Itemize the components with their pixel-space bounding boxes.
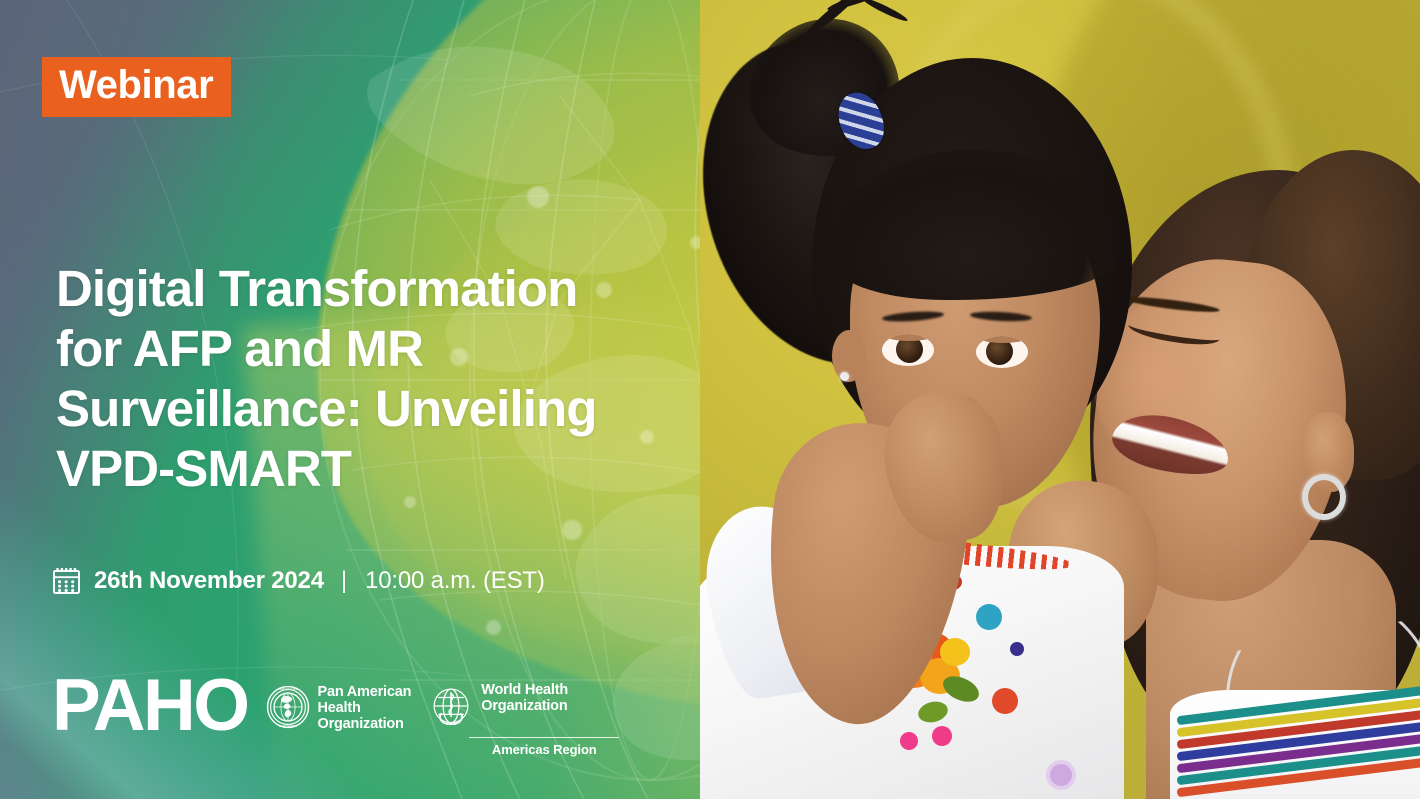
calendar-icon (52, 566, 81, 595)
paho-org-line-1: Pan American (318, 685, 412, 701)
event-date: 26th November 2024 (94, 567, 324, 595)
paho-logo: PRO SALUTE NOVI MUNDI Pan American Healt… (266, 678, 412, 734)
event-separator: | (341, 567, 347, 595)
title-line-4: VPD-SMART (56, 439, 736, 499)
logo-lockup: PAHO (52, 678, 619, 757)
paho-org-line-2: Health (318, 701, 412, 717)
webinar-badge: Webinar (42, 57, 231, 117)
who-logo: World Health Organization Americas Regio… (429, 678, 619, 757)
event-datetime: 26th November 2024 | 10:00 a.m. (EST) (52, 566, 545, 595)
who-org-line-1: World Health (481, 683, 568, 699)
title-line-2: for AFP and MR (56, 319, 736, 379)
photo-mother-and-child (700, 0, 1420, 799)
paho-org-name: Pan American Health Organization (318, 685, 412, 733)
page-title: Digital Transformation for AFP and MR Su… (56, 259, 736, 499)
paho-org-line-3: Organization (318, 717, 412, 733)
photo-child (700, 0, 1220, 799)
svg-text:NOVI MUNDI: NOVI MUNDI (279, 724, 297, 728)
who-org-name: World Health Organization (481, 683, 568, 715)
who-rod-of-asclepius-icon (429, 683, 473, 732)
event-time: 10:00 a.m. (EST) (365, 567, 545, 595)
title-line-1: Digital Transformation (56, 259, 736, 319)
webinar-banner: Webinar Digital Transformation for AFP a… (0, 0, 1420, 799)
banner-content: Webinar Digital Transformation for AFP a… (0, 0, 760, 799)
title-line-3: Surveillance: Unveiling (56, 379, 736, 439)
who-org-line-2: Organization (481, 699, 568, 715)
paho-globe-seal-icon: PRO SALUTE NOVI MUNDI (266, 685, 310, 734)
svg-text:PRO SALUTE: PRO SALUTE (278, 687, 297, 691)
paho-wordmark: PAHO (52, 675, 248, 738)
who-region-label: Americas Region (469, 737, 619, 757)
